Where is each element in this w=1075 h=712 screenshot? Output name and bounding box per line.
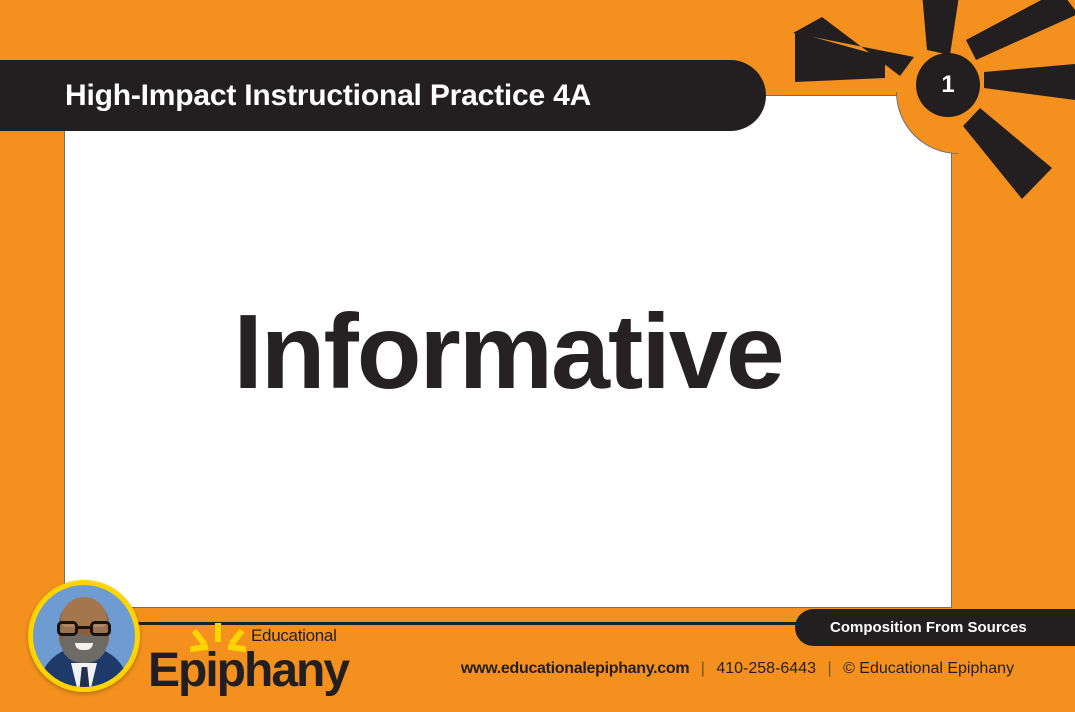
section-tag-label: Composition From Sources	[830, 619, 1027, 636]
brand-logo[interactable]: Educational Epiphany	[148, 625, 348, 693]
copyright-text: © Educational Epiphany	[843, 660, 1014, 677]
footer-separator-1: |	[701, 660, 705, 677]
website-link[interactable]: www.educationalepiphany.com	[461, 660, 689, 677]
main-heading-area: Informative	[64, 95, 952, 608]
status-badge: 1	[916, 53, 980, 117]
footer-separator-2: |	[827, 660, 831, 677]
logo-top-word: Educational	[251, 627, 337, 644]
badge-number: 1	[941, 73, 954, 97]
logo-main-word: Epiphany	[148, 647, 348, 695]
slide-title-bar: High-Impact Instructional Practice 4A	[0, 60, 766, 131]
page-title: High-Impact Instructional Practice 4A	[65, 79, 591, 113]
section-tag-badge: Composition From Sources	[795, 609, 1075, 646]
avatar	[28, 580, 140, 692]
main-heading-text: Informative	[233, 299, 782, 405]
phone-number: 410-258-6443	[716, 660, 816, 677]
slide-canvas: High-Impact Instructional Practice 4A 1 …	[0, 0, 1075, 712]
glasses-icon	[57, 621, 111, 636]
